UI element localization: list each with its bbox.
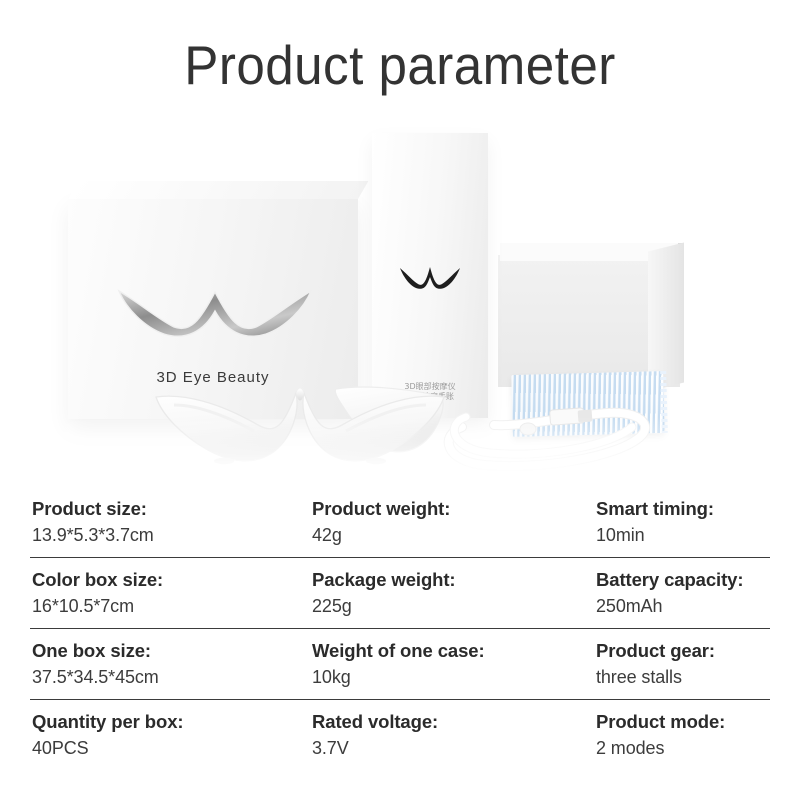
spec-value: 42g — [312, 522, 596, 549]
spec-cell-product-weight: Product weight: 42g — [312, 496, 596, 549]
product-photo: 3D Eye Beauty 3D眼部按摩仪美眼按摩手账 — [0, 115, 800, 487]
spec-table: Product size: 13.9*5.3*3.7cm Product wei… — [0, 487, 800, 770]
spec-cell-one-box-size: One box size: 37.5*34.5*45cm — [30, 638, 312, 691]
spec-row: Product size: 13.9*5.3*3.7cm Product wei… — [30, 487, 770, 558]
spec-row: Quantity per box: 40PCS Rated voltage: 3… — [30, 700, 770, 770]
spec-value: 16*10.5*7cm — [32, 593, 312, 620]
spec-cell-rated-voltage: Rated voltage: 3.7V — [312, 709, 596, 762]
spec-value: 3.7V — [312, 735, 596, 762]
spec-row: One box size: 37.5*34.5*45cm Weight of o… — [30, 629, 770, 700]
spec-cell-battery-capacity: Battery capacity: 250mAh — [596, 567, 770, 620]
spec-label: Quantity per box: — [32, 709, 312, 735]
product-parameter-page: Product parameter 3D Eye Beauty — [0, 0, 800, 800]
spec-cell-color-box-size: Color box size: 16*10.5*7cm — [30, 567, 312, 620]
spec-label: Product mode: — [596, 709, 770, 735]
spec-cell-quantity-per-box: Quantity per box: 40PCS — [30, 709, 312, 762]
spec-value: 10min — [596, 522, 770, 549]
spec-label: Package weight: — [312, 567, 596, 593]
spec-value: 250mAh — [596, 593, 770, 620]
spec-value: 40PCS — [32, 735, 312, 762]
main-carton-top-face — [68, 181, 368, 199]
spec-value: 10kg — [312, 664, 596, 691]
spec-value: 2 modes — [596, 735, 770, 762]
spec-cell-weight-of-one-case: Weight of one case: 10kg — [312, 638, 596, 691]
spec-label: Product weight: — [312, 496, 596, 522]
eye-massager-device — [150, 377, 450, 473]
spec-cell-product-mode: Product mode: 2 modes — [596, 709, 770, 762]
spec-cell-product-size: Product size: 13.9*5.3*3.7cm — [30, 496, 312, 549]
spec-label: Product gear: — [596, 638, 770, 664]
spec-value: 13.9*5.3*3.7cm — [32, 522, 312, 549]
spec-label: Battery capacity: — [596, 567, 770, 593]
spec-value: 225g — [312, 593, 596, 620]
spec-cell-package-weight: Package weight: 225g — [312, 567, 596, 620]
page-title: Product parameter — [28, 34, 772, 96]
spec-value: three stalls — [596, 664, 770, 691]
spec-label: Rated voltage: — [312, 709, 596, 735]
spec-cell-smart-timing: Smart timing: 10min — [596, 496, 770, 549]
spec-cell-product-gear: Product gear: three stalls — [596, 638, 770, 691]
spec-value: 37.5*34.5*45cm — [32, 664, 312, 691]
spec-label: Product size: — [32, 496, 312, 522]
eye-mask-black-icon — [399, 261, 461, 289]
spec-label: Color box size: — [32, 567, 312, 593]
spec-label: Smart timing: — [596, 496, 770, 522]
spec-label: One box size: — [32, 638, 312, 664]
usb-cable — [432, 365, 662, 475]
spec-row: Color box size: 16*10.5*7cm Package weig… — [30, 558, 770, 629]
spec-label: Weight of one case: — [312, 638, 596, 664]
eye-mask-silver-icon — [116, 275, 314, 337]
